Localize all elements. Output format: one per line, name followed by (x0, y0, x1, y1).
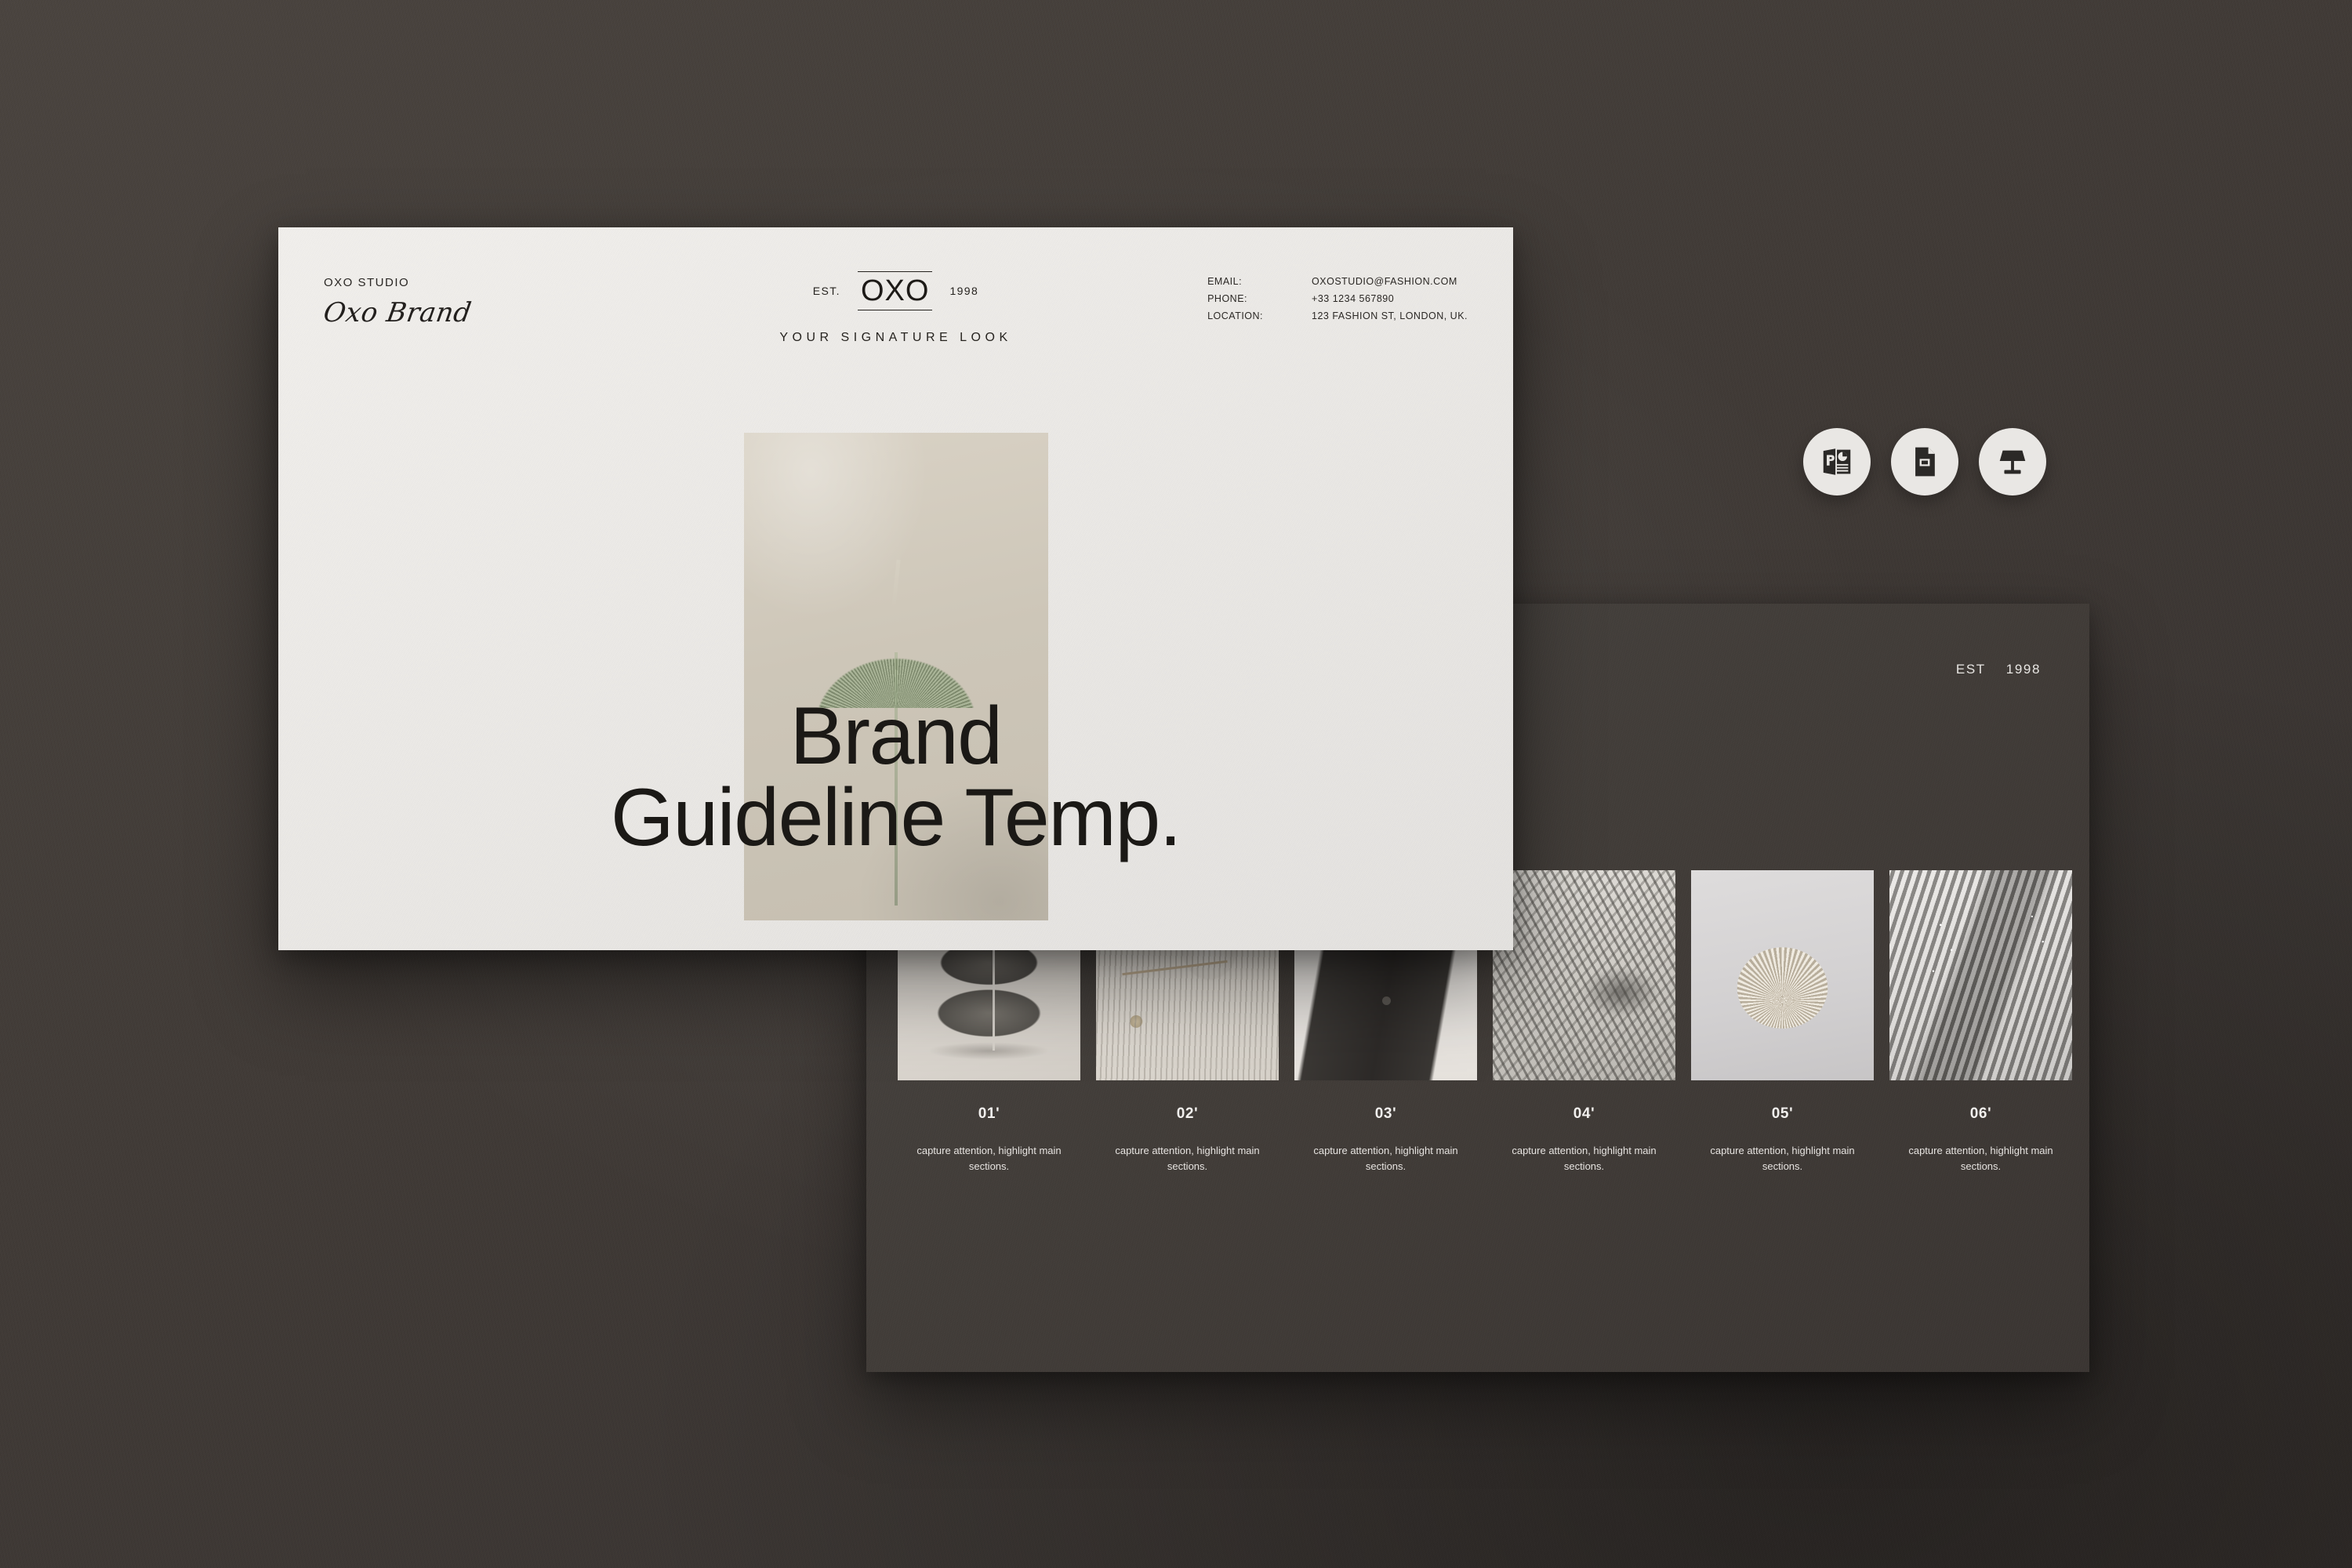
brand-signature: Oxo Brand (321, 297, 474, 328)
google-slides-icon (1907, 445, 1942, 479)
logo-est-label: EST. (813, 285, 840, 297)
contact-key-email: EMAIL: (1207, 276, 1263, 287)
powerpoint-icon (1819, 444, 1855, 480)
ginkgo-leaf-photo (744, 433, 1048, 920)
est-label: EST (1956, 662, 1986, 677)
format-badges (1803, 428, 2046, 495)
est-badge: EST 1998 (1956, 662, 2041, 677)
thumbnail-caption: capture attention, highlight main sectio… (1294, 1143, 1477, 1174)
thumbnail-caption: capture attention, highlight main sectio… (1096, 1143, 1279, 1174)
tropical-plant-photo (1493, 870, 1675, 1080)
thumbnail-number: 03' (1294, 1105, 1477, 1123)
contact-value-email: OXOSTUDIO@FASHION.COM (1312, 276, 1468, 287)
footer-meta: BRAND GUIDELINE PRESENTATION (OXO) SN NO… (0, 1450, 2352, 1568)
thumbnail-number: 01' (898, 1105, 1080, 1123)
est-year: 1998 (2006, 662, 2041, 677)
studio-label: OXO STUDIO (324, 276, 471, 289)
braided-hair-photo (1889, 870, 2072, 1080)
thumbnail-number: 04' (1493, 1105, 1675, 1123)
thumbnail-item[interactable]: 06' capture attention, highlight main se… (1889, 870, 2072, 1174)
thumbnail-number: 05' (1691, 1105, 1874, 1123)
thumbnail-caption: capture attention, highlight main sectio… (898, 1143, 1080, 1174)
google-slides-badge[interactable] (1891, 428, 1958, 495)
thumbnail-caption: capture attention, highlight main sectio… (1889, 1143, 2072, 1174)
studio-branding: OXO STUDIO Oxo Brand (324, 276, 471, 328)
thumbnail-item[interactable]: 04' capture attention, highlight main se… (1493, 870, 1675, 1174)
logo-year: 1998 (949, 285, 978, 297)
keynote-badge[interactable] (1979, 428, 2046, 495)
thumbnail-number: 02' (1096, 1105, 1279, 1123)
mockup-stage: EST 1998 ...tyle 01' capture attention, … (0, 0, 2352, 1568)
photo-lighting-overlay (744, 433, 1048, 920)
slide-cover[interactable]: OXO STUDIO Oxo Brand EST. OXO 1998 YOUR … (278, 227, 1513, 950)
keynote-icon (1994, 444, 2031, 480)
tagline: YOUR SIGNATURE LOOK (731, 331, 1061, 345)
logo-wordmark: OXO (861, 274, 929, 307)
contact-key-phone: PHONE: (1207, 293, 1263, 304)
contact-value-phone: +33 1234 567890 (1312, 293, 1468, 304)
thumbnail-caption: capture attention, highlight main sectio… (1493, 1143, 1675, 1174)
contact-key-location: LOCATION: (1207, 310, 1263, 321)
thumbnail-item[interactable]: 05' capture attention, highlight main se… (1691, 870, 1874, 1174)
contact-block: EMAIL: OXOSTUDIO@FASHION.COM PHONE: +33 … (1207, 276, 1468, 321)
logo-mark: OXO (858, 271, 932, 310)
powerpoint-badge[interactable] (1803, 428, 1871, 495)
thumbnail-number: 06' (1889, 1105, 2072, 1123)
thumbnail-caption: capture attention, highlight main sectio… (1691, 1143, 1874, 1174)
contact-value-location: 123 FASHION ST, LONDON, UK. (1312, 310, 1468, 321)
logo-lockup: EST. OXO 1998 YOUR SIGNATURE LOOK (731, 271, 1061, 345)
seashell-on-sand-photo (1691, 870, 1874, 1080)
